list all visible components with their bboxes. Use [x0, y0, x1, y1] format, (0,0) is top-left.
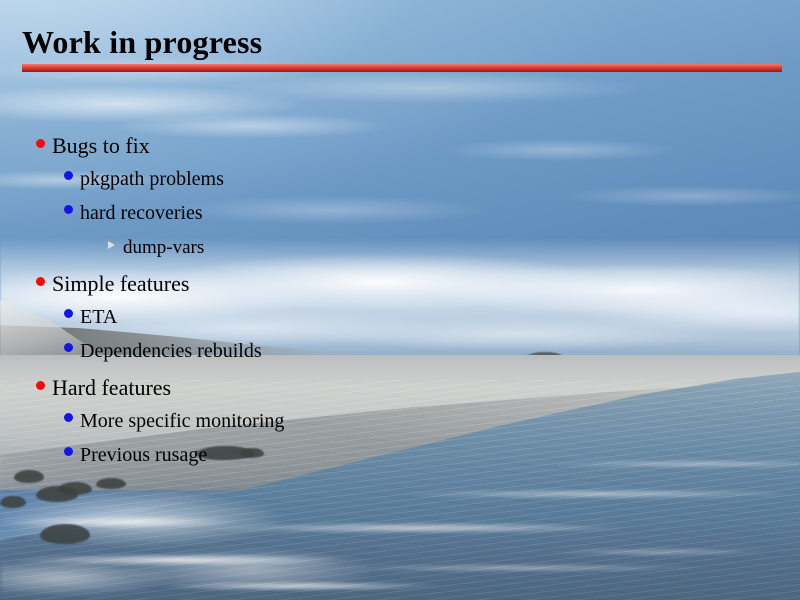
- bullet-item: Previous rusage: [64, 444, 207, 467]
- bullet-item-label: Dependencies rebuilds: [80, 340, 262, 363]
- bullet-item-label: Simple features: [52, 271, 189, 297]
- bullet-item: Bugs to fix: [36, 133, 150, 159]
- bullet-item-label: Previous rusage: [80, 444, 207, 467]
- bullet-item: ETA: [64, 306, 117, 329]
- bullet-item-label: Hard features: [52, 375, 171, 401]
- bullet-item-label: Bugs to fix: [52, 133, 150, 159]
- blue-disc-bullet-icon: [64, 447, 73, 456]
- bullet-item-label: hard recoveries: [80, 202, 203, 225]
- bullet-item-label: ETA: [80, 306, 117, 329]
- blue-disc-bullet-icon: [64, 309, 73, 318]
- bullet-item: hard recoveries: [64, 202, 203, 225]
- bullet-item: pkgpath problems: [64, 168, 224, 191]
- bullet-item: Hard features: [36, 375, 171, 401]
- bullet-item: Dependencies rebuilds: [64, 340, 262, 363]
- blue-disc-bullet-icon: [64, 413, 73, 422]
- blue-disc-bullet-icon: [64, 343, 73, 352]
- bullet-item-label: pkgpath problems: [80, 168, 224, 191]
- red-disc-bullet-icon: [36, 139, 45, 148]
- red-disc-bullet-icon: [36, 277, 45, 286]
- bullet-list: Bugs to fixpkgpath problemshard recoveri…: [0, 0, 800, 600]
- bullet-item-label: dump-vars: [123, 237, 204, 259]
- bullet-item: Simple features: [36, 271, 189, 297]
- red-disc-bullet-icon: [36, 381, 45, 390]
- bullet-item: dump-vars: [108, 237, 204, 259]
- bullet-item-label: More specific monitoring: [80, 410, 284, 433]
- blue-disc-bullet-icon: [64, 205, 73, 214]
- triangle-bullet-icon: [108, 241, 115, 249]
- slide-canvas: Work in progress Bugs to fixpkgpath prob…: [0, 0, 800, 600]
- blue-disc-bullet-icon: [64, 171, 73, 180]
- bullet-item: More specific monitoring: [64, 410, 284, 433]
